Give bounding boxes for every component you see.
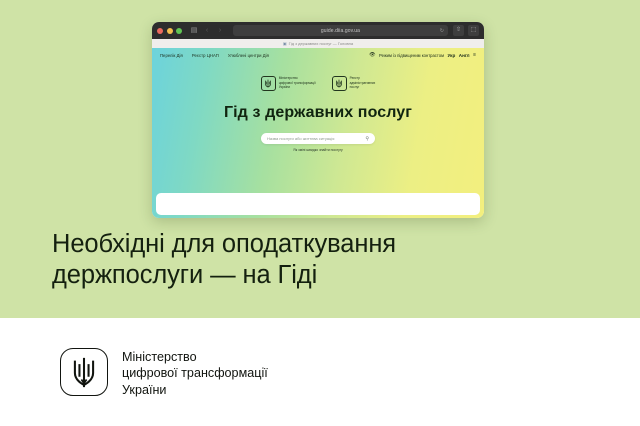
emblem-text-block: Міністерство цифрової трансформації Укра…	[279, 77, 316, 90]
close-window-button[interactable]	[157, 28, 163, 34]
hamburger-menu-icon[interactable]: ≡	[473, 52, 476, 58]
browser-titlebar: ▤ ‹ › guide.diia.gov.ua ↻ ⇧ ⬚	[152, 22, 484, 39]
footer-text-block: Міністерство цифрової трансформації Укра…	[122, 348, 268, 398]
emblem-line-3: України	[279, 86, 316, 90]
language-switch-uk[interactable]: Укр	[447, 53, 455, 58]
footer: Міністерство цифрової трансформації Укра…	[0, 318, 640, 426]
site-nav-link-2[interactable]: Реєстр ЦНАП	[192, 53, 219, 58]
hero-banner: ▤ ‹ › guide.diia.gov.ua ↻ ⇧ ⬚ ▣ Гід з де…	[0, 0, 640, 318]
eye-icon[interactable]: 👁	[369, 52, 375, 58]
site-nav-utilities: 👁 Режим із підвищеним контрастом Укр Анг…	[369, 52, 476, 58]
footer-line-2: цифрової трансформації	[122, 365, 268, 381]
search-hint-text: Як зміні швидко знайти послугу	[293, 148, 342, 152]
search-input-placeholder: Назва послуги або життєва ситуація	[267, 136, 365, 141]
emblem-text-block: Реєстр адміністративних послуг	[350, 77, 376, 90]
headline-line-2: держпослуги — на Гіді	[52, 260, 522, 291]
ukraine-trident-icon	[261, 76, 276, 91]
search-icon[interactable]: ⚲	[365, 136, 369, 142]
search-input[interactable]: Назва послуги або життєва ситуація ⚲	[261, 133, 375, 144]
headline: Необхідні для оподаткування держпослуги …	[52, 229, 522, 291]
language-switch-en[interactable]: Англ	[459, 53, 470, 58]
ukraine-trident-icon	[332, 76, 347, 91]
maximize-window-button[interactable]	[176, 28, 182, 34]
ministry-emblems-row: Міністерство цифрової трансформації Укра…	[152, 76, 484, 91]
search-section: Назва послуги або життєва ситуація ⚲ Як …	[152, 133, 484, 152]
footer-branding: Міністерство цифрової трансформації Укра…	[60, 348, 268, 398]
bookmark-favicon-icon: ▣	[283, 41, 287, 46]
footer-line-1: Міністерство	[122, 349, 268, 365]
emblem-registry-admin-services[interactable]: Реєстр адміністративних послуг	[332, 76, 376, 91]
emblem-line-3: послуг	[350, 86, 376, 90]
reload-icon[interactable]: ↻	[440, 28, 444, 34]
page-bottom-panel	[156, 193, 480, 215]
site-nav-link-1[interactable]: Перелік Дія	[160, 53, 183, 58]
ukraine-trident-icon	[60, 348, 108, 396]
page-title: Гід з державних послуг	[152, 104, 484, 122]
footer-line-3: України	[122, 382, 268, 398]
share-icon[interactable]: ⇧	[453, 25, 464, 36]
minimize-window-button[interactable]	[167, 28, 173, 34]
browser-window-mockup: ▤ ‹ › guide.diia.gov.ua ↻ ⇧ ⬚ ▣ Гід з де…	[152, 22, 484, 218]
forward-icon[interactable]: ›	[215, 26, 225, 36]
address-bar[interactable]: guide.diia.gov.ua ↻	[233, 25, 448, 36]
accessibility-mode-label[interactable]: Режим із підвищеним контрастом	[379, 53, 444, 58]
headline-line-1: Необхідні для оподаткування	[52, 229, 522, 260]
back-icon[interactable]: ‹	[202, 26, 212, 36]
bookmark-item-label[interactable]: Гід з державних послуг — Головна	[289, 41, 353, 46]
site-nav-links: Перелік Дія Реєстр ЦНАП Улюблені центри …	[160, 53, 269, 58]
sidebar-toggle-icon[interactable]: ▤	[189, 26, 199, 36]
tab-overview-icon[interactable]: ⬚	[468, 25, 479, 36]
address-bar-url: guide.diia.gov.ua	[321, 28, 360, 34]
window-traffic-lights	[157, 28, 182, 34]
browser-toolbar-right: ⇧ ⬚	[453, 25, 479, 36]
site-nav-link-3[interactable]: Улюблені центри Дія	[228, 53, 269, 58]
bookmarks-bar: ▣ Гід з державних послуг — Головна	[152, 39, 484, 48]
site-navigation-bar: Перелік Дія Реєстр ЦНАП Улюблені центри …	[152, 48, 484, 62]
emblem-ministry-digital-transformation[interactable]: Міністерство цифрової трансформації Укра…	[261, 76, 316, 91]
website-viewport: Перелік Дія Реєстр ЦНАП Улюблені центри …	[152, 48, 484, 218]
